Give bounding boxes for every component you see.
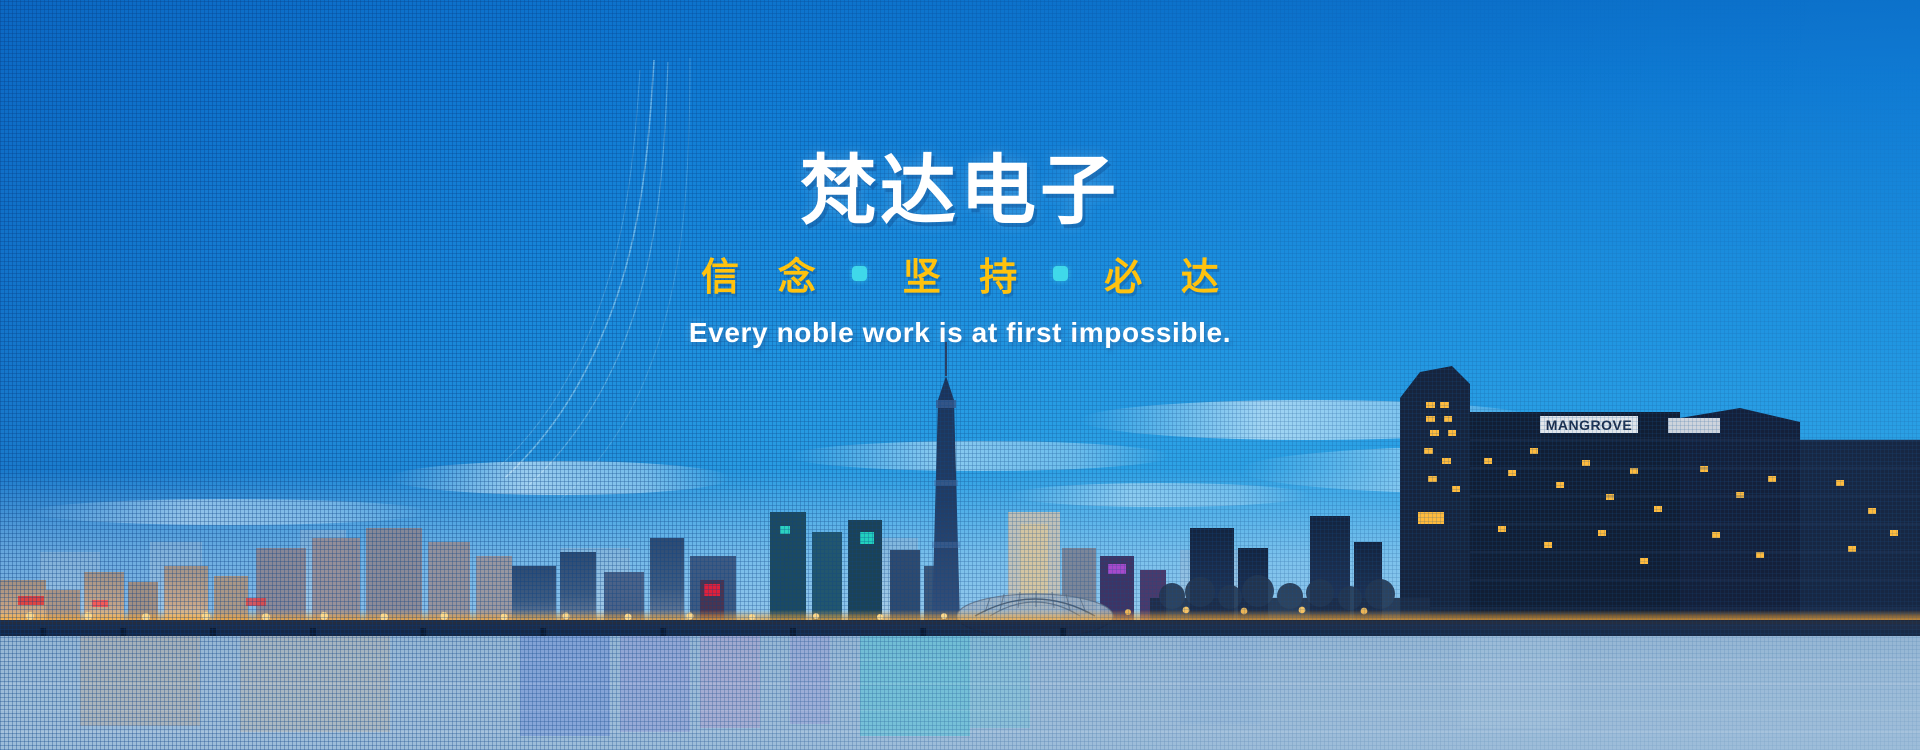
svg-text:MANGROVE: MANGROVE	[1546, 417, 1632, 433]
tagline-word-2: 坚 持	[889, 246, 1032, 301]
hero-banner: MANGROVE	[0, 0, 1920, 750]
tagline-word-3: 必 达	[1090, 246, 1233, 301]
brand-title: 梵达电子	[800, 152, 1120, 232]
cyan-square-dot-icon	[1053, 266, 1068, 281]
banner-subtitle: Every noble work is at first impossible.	[689, 317, 1231, 349]
tagline-word-1: 信 念	[687, 246, 830, 301]
mangrove-hotel: MANGROVE	[1400, 366, 1920, 622]
city-skyline: MANGROVE	[0, 280, 1920, 750]
tagline: 信 念 坚 持 必 达	[687, 246, 1233, 301]
cyan-square-dot-icon	[852, 266, 867, 281]
tapered-tower	[932, 342, 960, 622]
